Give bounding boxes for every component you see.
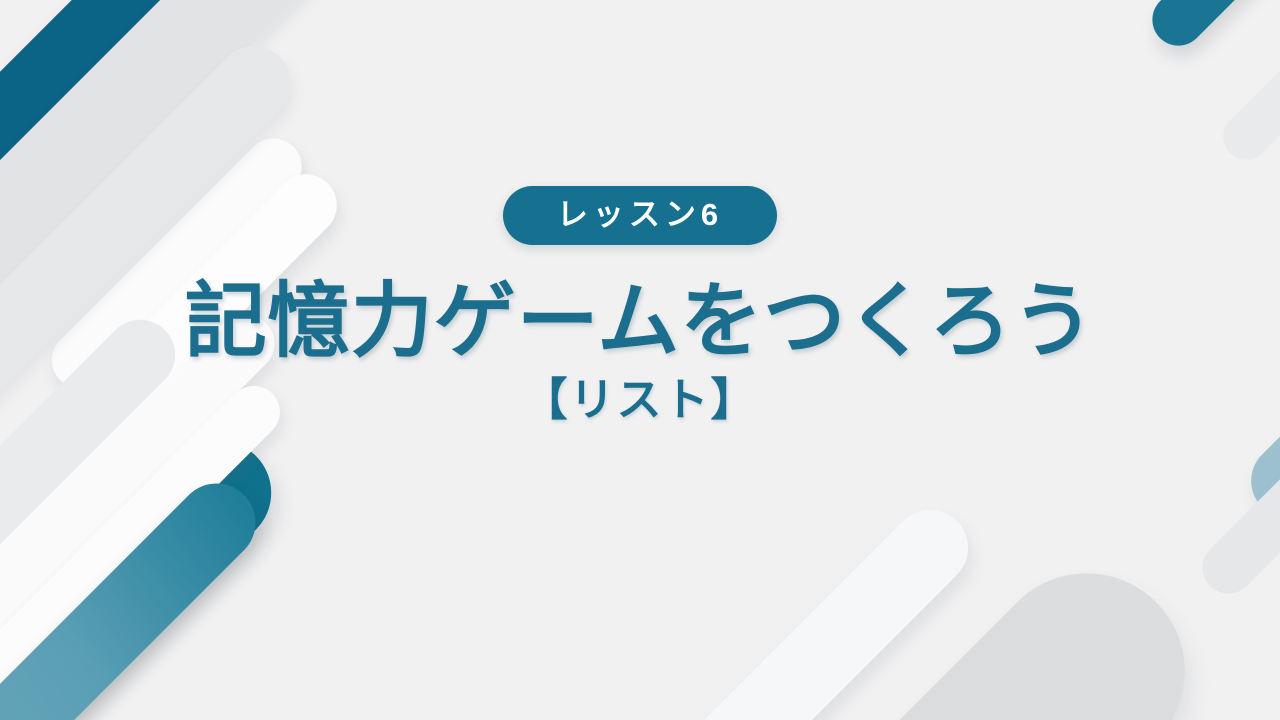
title-slide: レッスン6 記憶力ゲームをつくろう 【リスト】 [0, 0, 1280, 720]
lesson-badge: レッスン6 [503, 186, 777, 245]
slide-subtitle: 【リスト】 [522, 377, 757, 422]
slide-title: 記憶力ゲームをつくろう [185, 281, 1096, 363]
slide-content: レッスン6 記憶力ゲームをつくろう 【リスト】 [0, 0, 1280, 720]
